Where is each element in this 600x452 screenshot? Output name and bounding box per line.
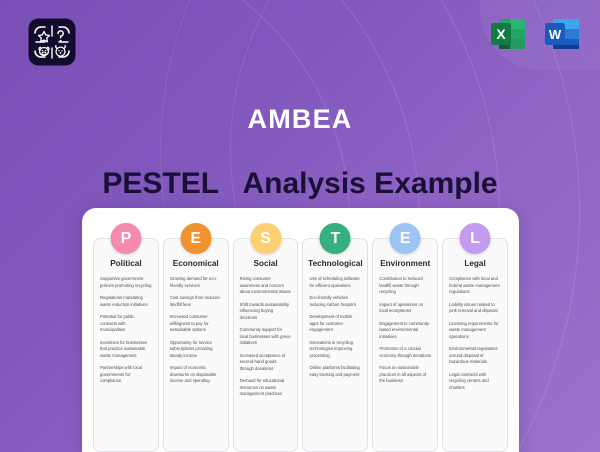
svg-text:W: W [549, 27, 562, 42]
list-item: Innovations in recycling technologies im… [309, 340, 361, 360]
slide-canvas: X W AMBEA PESTEL Analysis Example PPolit… [0, 0, 600, 452]
page-title-rest: Analysis Example [242, 167, 497, 200]
pestel-column-economical[interactable]: EEconomicalGrowing demand for eco-friend… [163, 238, 229, 452]
list-item: Online platforms facilitating easy booki… [309, 365, 361, 378]
pestel-column-social[interactable]: SSocialRising consumer awareness and con… [233, 238, 299, 452]
column-title: Social [238, 259, 294, 268]
list-item: Incentives for businesses that practice … [100, 340, 152, 360]
column-item-list: Use of scheduling software for efficient… [307, 276, 363, 378]
list-item: Partnerships with local governments for … [100, 365, 152, 385]
pestel-board: PPoliticalSupportive government policies… [82, 208, 519, 452]
list-item: Impact of economic downturns on disposab… [170, 365, 222, 385]
list-item: Regulations mandating waste reduction in… [100, 295, 152, 308]
list-item: Engagement in community-based environmen… [379, 321, 431, 341]
list-item: Eco-friendly vehicles reducing carbon fo… [309, 295, 361, 308]
list-item: Opportunity for service subscriptions pr… [170, 340, 222, 360]
list-item: Shift towards sustainability influencing… [240, 302, 292, 322]
excel-icon[interactable]: X [488, 14, 528, 54]
page-title-strong: PESTEL [102, 167, 218, 200]
list-item: Focus on sustainable practices in all as… [379, 365, 431, 385]
list-item: Compliance with local and federal waste … [449, 276, 501, 296]
word-icon[interactable]: W [542, 14, 582, 54]
column-title: Economical [168, 259, 224, 268]
list-item: Promotion of a circular economy through … [379, 346, 431, 359]
list-item: Licensing requirements for waste managem… [449, 321, 501, 341]
column-title: Legal [447, 259, 503, 268]
list-item: Use of scheduling software for efficient… [309, 276, 361, 289]
list-item: Increased consumer willingness to pay fo… [170, 314, 222, 334]
list-item: Increased acceptance of second-hand good… [240, 353, 292, 373]
column-item-list: Supportive government policies promoting… [98, 276, 154, 385]
svg-text:X: X [496, 26, 506, 42]
column-title: Political [98, 259, 154, 268]
list-item: Development of mobile apps for customer … [309, 314, 361, 334]
list-item: Impact of operations on local ecosystems [379, 302, 431, 315]
list-item: Environmental regulations around disposa… [449, 346, 501, 366]
list-item: Cost savings from reduced landfill fees [170, 295, 222, 308]
brand-name: AMBEA [0, 104, 600, 135]
office-app-icons: X W [488, 14, 582, 54]
column-item-list: Contribution to reduced landfill waste t… [377, 276, 433, 385]
column-item-list: Growing demand for eco-friendly services… [168, 276, 224, 385]
pestel-column-environment[interactable]: EEnvironmentContribution to reduced land… [372, 238, 438, 452]
list-item: Supportive government policies promoting… [100, 276, 152, 289]
ambea-logo-icon [27, 17, 77, 67]
column-badge-letter: T [320, 223, 351, 254]
list-item: Contribution to reduced landfill waste t… [379, 276, 431, 296]
column-badge-letter: E [180, 223, 211, 254]
list-item: Potential for public contracts with muni… [100, 314, 152, 334]
list-item: Legal contracts with recycling centers a… [449, 372, 501, 392]
column-item-list: Compliance with local and federal waste … [447, 276, 503, 391]
pestel-column-technological[interactable]: TTechnologicalUse of scheduling software… [302, 238, 368, 452]
column-item-list: Rising consumer awareness and concern ab… [238, 276, 294, 398]
list-item: Growing demand for eco-friendly services [170, 276, 222, 289]
pestel-column-legal[interactable]: LLegalCompliance with local and federal … [442, 238, 508, 452]
column-badge-letter: P [110, 223, 141, 254]
list-item: Demand for educational resources on wast… [240, 378, 292, 398]
list-item: Liability issues related to junk removal… [449, 302, 501, 315]
column-badge-letter: S [250, 223, 281, 254]
pestel-column-political[interactable]: PPoliticalSupportive government policies… [93, 238, 159, 452]
column-title: Technological [307, 259, 363, 268]
column-badge-letter: E [390, 223, 421, 254]
page-title: PESTEL Analysis Example [0, 167, 600, 201]
column-title: Environment [377, 259, 433, 268]
list-item: Rising consumer awareness and concern ab… [240, 276, 292, 296]
list-item: Community support for local businesses w… [240, 327, 292, 347]
column-badge-letter: L [460, 223, 491, 254]
